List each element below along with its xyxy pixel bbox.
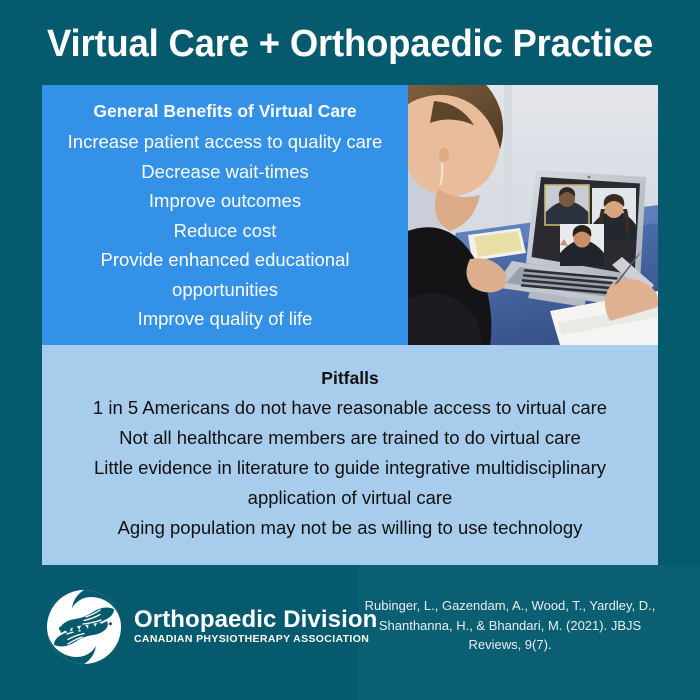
logo-title: Orthopaedic Division (134, 607, 377, 633)
video-call-photo-icon (408, 85, 658, 345)
pitfalls-list: 1 in 5 Americans do not have reasonable … (54, 393, 646, 543)
list-item: Improve quality of life (58, 304, 392, 334)
list-item: Decrease wait-times (58, 157, 392, 187)
list-item: Little evidence in literature to guide i… (54, 453, 646, 513)
list-item: Aging population may not be as willing t… (54, 513, 646, 543)
list-item: Not all healthcare members are trained t… (54, 423, 646, 453)
pitfalls-panel: Pitfalls 1 in 5 Americans do not have re… (42, 345, 658, 565)
list-item: Improve outcomes (58, 186, 392, 216)
list-item: Provide enhanced educational opportuniti… (58, 245, 392, 304)
organization-logo: Orthopaedic Division CANADIAN PHYSIOTHER… (44, 586, 314, 668)
pitfalls-heading: Pitfalls (54, 366, 646, 390)
logo-subtitle: CANADIAN PHYSIOTHERAPY ASSOCIATION (134, 633, 377, 646)
list-item: Reduce cost (58, 216, 392, 246)
citation-text: Rubinger, L., Gazendam, A., Wood, T., Ya… (360, 596, 660, 655)
benefits-list: Increase patient access to quality care … (58, 127, 392, 334)
logo-text: Orthopaedic Division CANADIAN PHYSIOTHER… (134, 607, 377, 648)
virtual-care-photo (408, 85, 658, 345)
infographic-poster: Virtual Care + Orthopaedic Practice Gene… (0, 0, 700, 700)
orthopaedic-division-hands-spine-icon (44, 587, 124, 667)
list-item: Increase patient access to quality care (58, 127, 392, 157)
list-item: 1 in 5 Americans do not have reasonable … (54, 393, 646, 423)
benefits-panel: General Benefits of Virtual Care Increas… (42, 85, 408, 345)
benefits-heading: General Benefits of Virtual Care (58, 99, 392, 123)
page-title: Virtual Care + Orthopaedic Practice (14, 21, 686, 67)
